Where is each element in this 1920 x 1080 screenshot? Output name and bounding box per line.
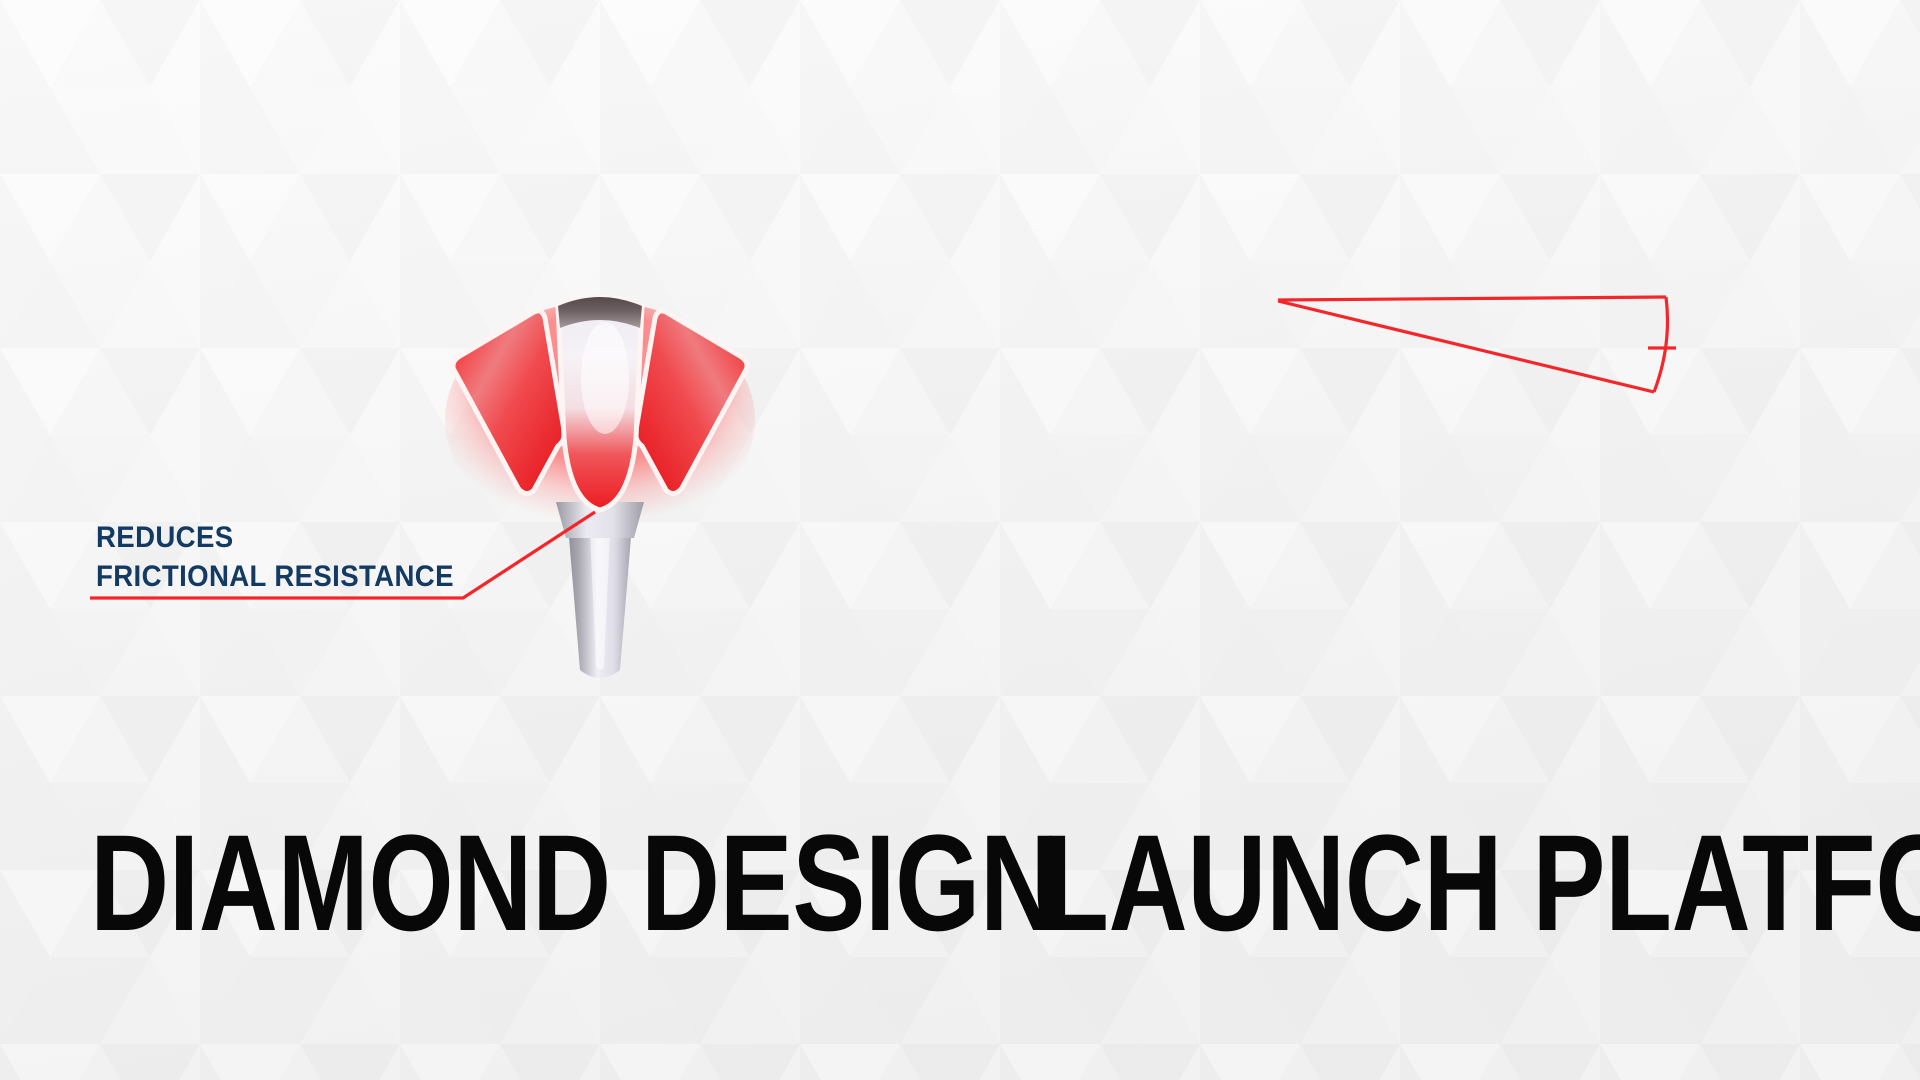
callout-reduces-friction: REDUCES FRICTIONAL RESISTANCE [96,518,454,596]
callout-left-line1: REDUCES [96,518,454,557]
headline-launch-platform: LAUNCH PLATFORM [1042,815,1920,952]
feature-panel-stage: REDUCES FRICTIONAL RESISTANCE DIAMOND DE… [0,0,1920,1080]
panel-launch-platform: 10°DEGREES LAUNCH PLATFORM [960,0,1920,1080]
panel-diamond-design: REDUCES FRICTIONAL RESISTANCE DIAMOND DE… [0,0,960,1080]
callout-left-line2: FRICTIONAL RESISTANCE [96,557,454,596]
golf-tee-crown-illustration [430,270,770,690]
headline-diamond-design: DIAMOND DESIGN [90,815,1059,952]
